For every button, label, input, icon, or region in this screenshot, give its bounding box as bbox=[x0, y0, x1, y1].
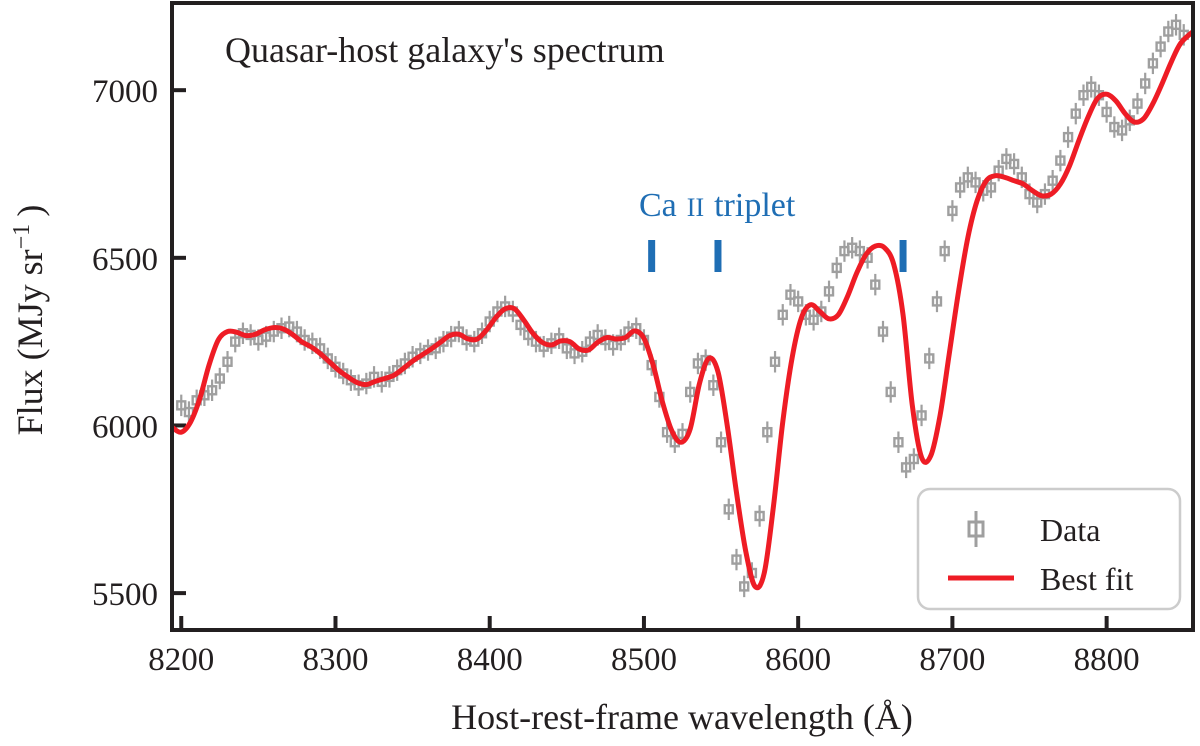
ca-triplet-label-roman: II bbox=[687, 193, 704, 222]
spectrum-figure: 8200830084008500860087008800 55006000650… bbox=[0, 0, 1200, 746]
x-tick-label: 8200 bbox=[148, 642, 214, 678]
figure-background bbox=[0, 0, 1200, 746]
spectrum-plot-svg: 8200830084008500860087008800 55006000650… bbox=[0, 0, 1200, 746]
plot-title: Quasar-host galaxy's spectrum bbox=[225, 30, 665, 70]
y-tick-label: 7000 bbox=[92, 74, 158, 110]
y-axis-label-close: ) bbox=[10, 205, 50, 224]
x-tick-label: 8700 bbox=[919, 642, 985, 678]
ca-triplet-label-prefix: Ca bbox=[639, 187, 677, 224]
y-axis-label-main: Flux (MJy sr bbox=[10, 249, 50, 435]
x-tick-label: 8400 bbox=[457, 642, 523, 678]
x-axis-label: Host-rest-frame wavelength (Å) bbox=[451, 697, 913, 737]
ca-triplet-label-suffix: triplet bbox=[714, 187, 796, 224]
y-axis-label-exponent: −1 bbox=[9, 224, 35, 250]
legend-label-data: Data bbox=[1040, 512, 1100, 548]
legend[interactable]: Data Best fit bbox=[918, 489, 1180, 609]
y-tick-label: 6500 bbox=[92, 242, 158, 278]
x-tick-label: 8800 bbox=[1074, 642, 1140, 678]
x-tick-label: 8300 bbox=[302, 642, 368, 678]
x-tick-label: 8600 bbox=[765, 642, 831, 678]
x-tick-label: 8500 bbox=[611, 642, 677, 678]
ca-triplet-label: CaIItriplet bbox=[639, 187, 796, 224]
y-tick-label: 6000 bbox=[92, 409, 158, 445]
legend-label-best-fit: Best fit bbox=[1040, 561, 1133, 597]
y-tick-label: 5500 bbox=[92, 577, 158, 613]
